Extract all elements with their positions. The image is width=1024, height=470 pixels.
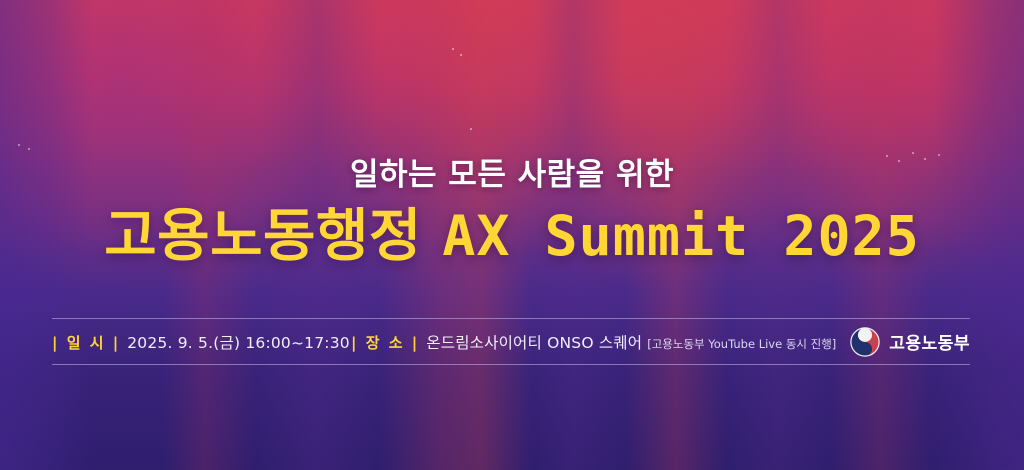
event-title-english: AX Summit 2025 [442, 204, 920, 268]
event-title: 고용노동행정 AX Summit 2025 [0, 205, 1024, 269]
event-details: | 일 시 | 2025. 9. 5.(금) 16:00~17:30 | 장 소… [52, 331, 836, 353]
event-info-bar: | 일 시 | 2025. 9. 5.(금) 16:00~17:30 | 장 소… [52, 318, 970, 365]
date-label: | 일 시 | [52, 332, 120, 353]
venue-label: | 장 소 | [351, 332, 419, 353]
event-title-korean: 고용노동행정 [104, 203, 422, 269]
organizer-logo-block: 고용노동부 [836, 327, 970, 357]
poster-content: 일하는 모든 사람을 위한 고용노동행정 AX Summit 2025 | 일 … [0, 0, 1024, 470]
event-subtitle: 일하는 모든 사람을 위한 [0, 158, 1024, 194]
venue-note: [고용노동부 YouTube Live 동시 진행] [647, 336, 836, 352]
organizer-name: 고용노동부 [889, 329, 970, 354]
venue-value: 온드림소사이어티 ONSO 스퀘어 [426, 331, 642, 353]
taeguk-icon [850, 327, 880, 357]
event-poster: 일하는 모든 사람을 위한 고용노동행정 AX Summit 2025 | 일 … [0, 0, 1024, 470]
date-value: 2025. 9. 5.(금) 16:00~17:30 [127, 331, 350, 353]
